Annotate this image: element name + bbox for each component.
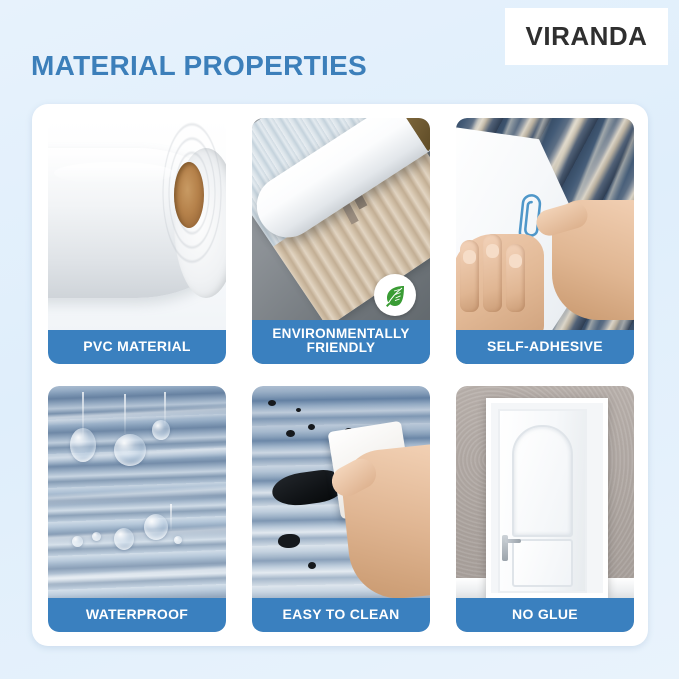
feature-card-pvc-material[interactable]: PVC MATERIAL [48,118,226,364]
card-label-no-glue: NO GLUE [456,598,634,632]
door-frame [486,398,608,598]
card-label-environmentally-friendly: ENVIRONMENTALLY FRIENDLY [252,320,430,364]
left-hand [456,234,544,338]
card-label-pvc-material: PVC MATERIAL [48,330,226,364]
feature-card-waterproof[interactable]: WATERPROOF [48,386,226,632]
no-glue-image [456,386,634,632]
pvc-roll-image [48,118,226,364]
feature-card-environmentally-friendly[interactable]: ENVIRONMENTALLY FRIENDLY [252,118,430,364]
feature-card-self-adhesive[interactable]: SELF-ADHESIVE [456,118,634,364]
right-hand [552,200,634,320]
brand-name: VIRANDA [526,21,648,52]
easy-to-clean-image [252,386,430,632]
card-label-waterproof: WATERPROOF [48,598,226,632]
door-leaf [498,409,587,593]
door-handle-icon [502,535,508,561]
feature-card-no-glue[interactable]: NO GLUE [456,386,634,632]
page-title: MATERIAL PROPERTIES [31,50,367,82]
waterproof-image [48,386,226,632]
card-label-self-adhesive: SELF-ADHESIVE [456,330,634,364]
roll-core [174,162,204,228]
feature-card-grid: PVC MATERIAL [48,118,634,634]
self-adhesive-image [456,118,634,364]
leaf-icon [374,274,416,316]
brand-logo: VIRANDA [505,8,668,65]
feature-card-easy-to-clean[interactable]: EASY TO CLEAN [252,386,430,632]
card-label-easy-to-clean: EASY TO CLEAN [252,598,430,632]
infographic-page: VIRANDA MATERIAL PROPERTIES PVC MATERIAL [0,0,679,679]
